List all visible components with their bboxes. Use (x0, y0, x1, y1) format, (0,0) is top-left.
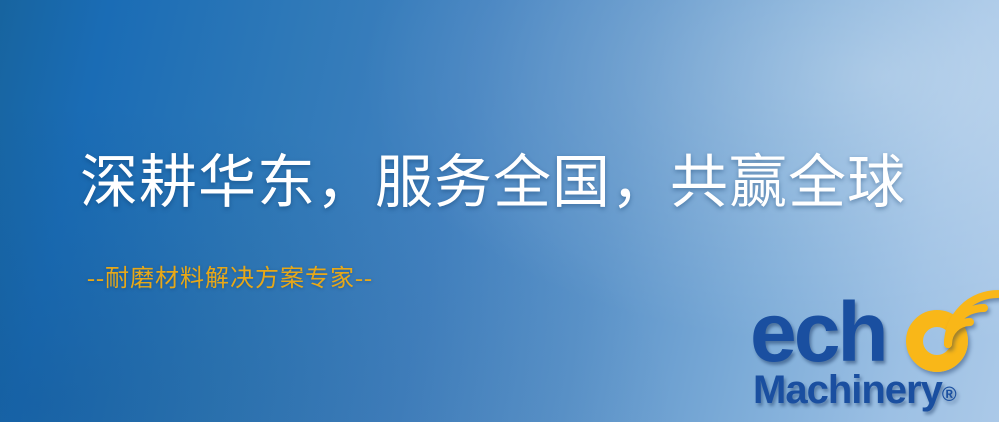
logo-tagline: Machinery® (753, 370, 957, 415)
banner-subtitle: --耐磨材料解决方案专家-- (87, 266, 373, 292)
logo-tagline-text: Machinery (753, 368, 942, 412)
registered-trademark-mark: ® (942, 384, 957, 406)
signal-waves-icon (940, 286, 999, 358)
company-logo: ech Machinery® (744, 296, 999, 422)
logo-wordmark: ech (744, 296, 999, 378)
banner-headline: 深耕华东，服务全国，共赢全球 (80, 152, 906, 215)
logo-word-ech: ech (750, 290, 886, 374)
hero-banner: 深耕华东，服务全国，共赢全球 --耐磨材料解决方案专家-- ech Machin… (0, 0, 999, 422)
